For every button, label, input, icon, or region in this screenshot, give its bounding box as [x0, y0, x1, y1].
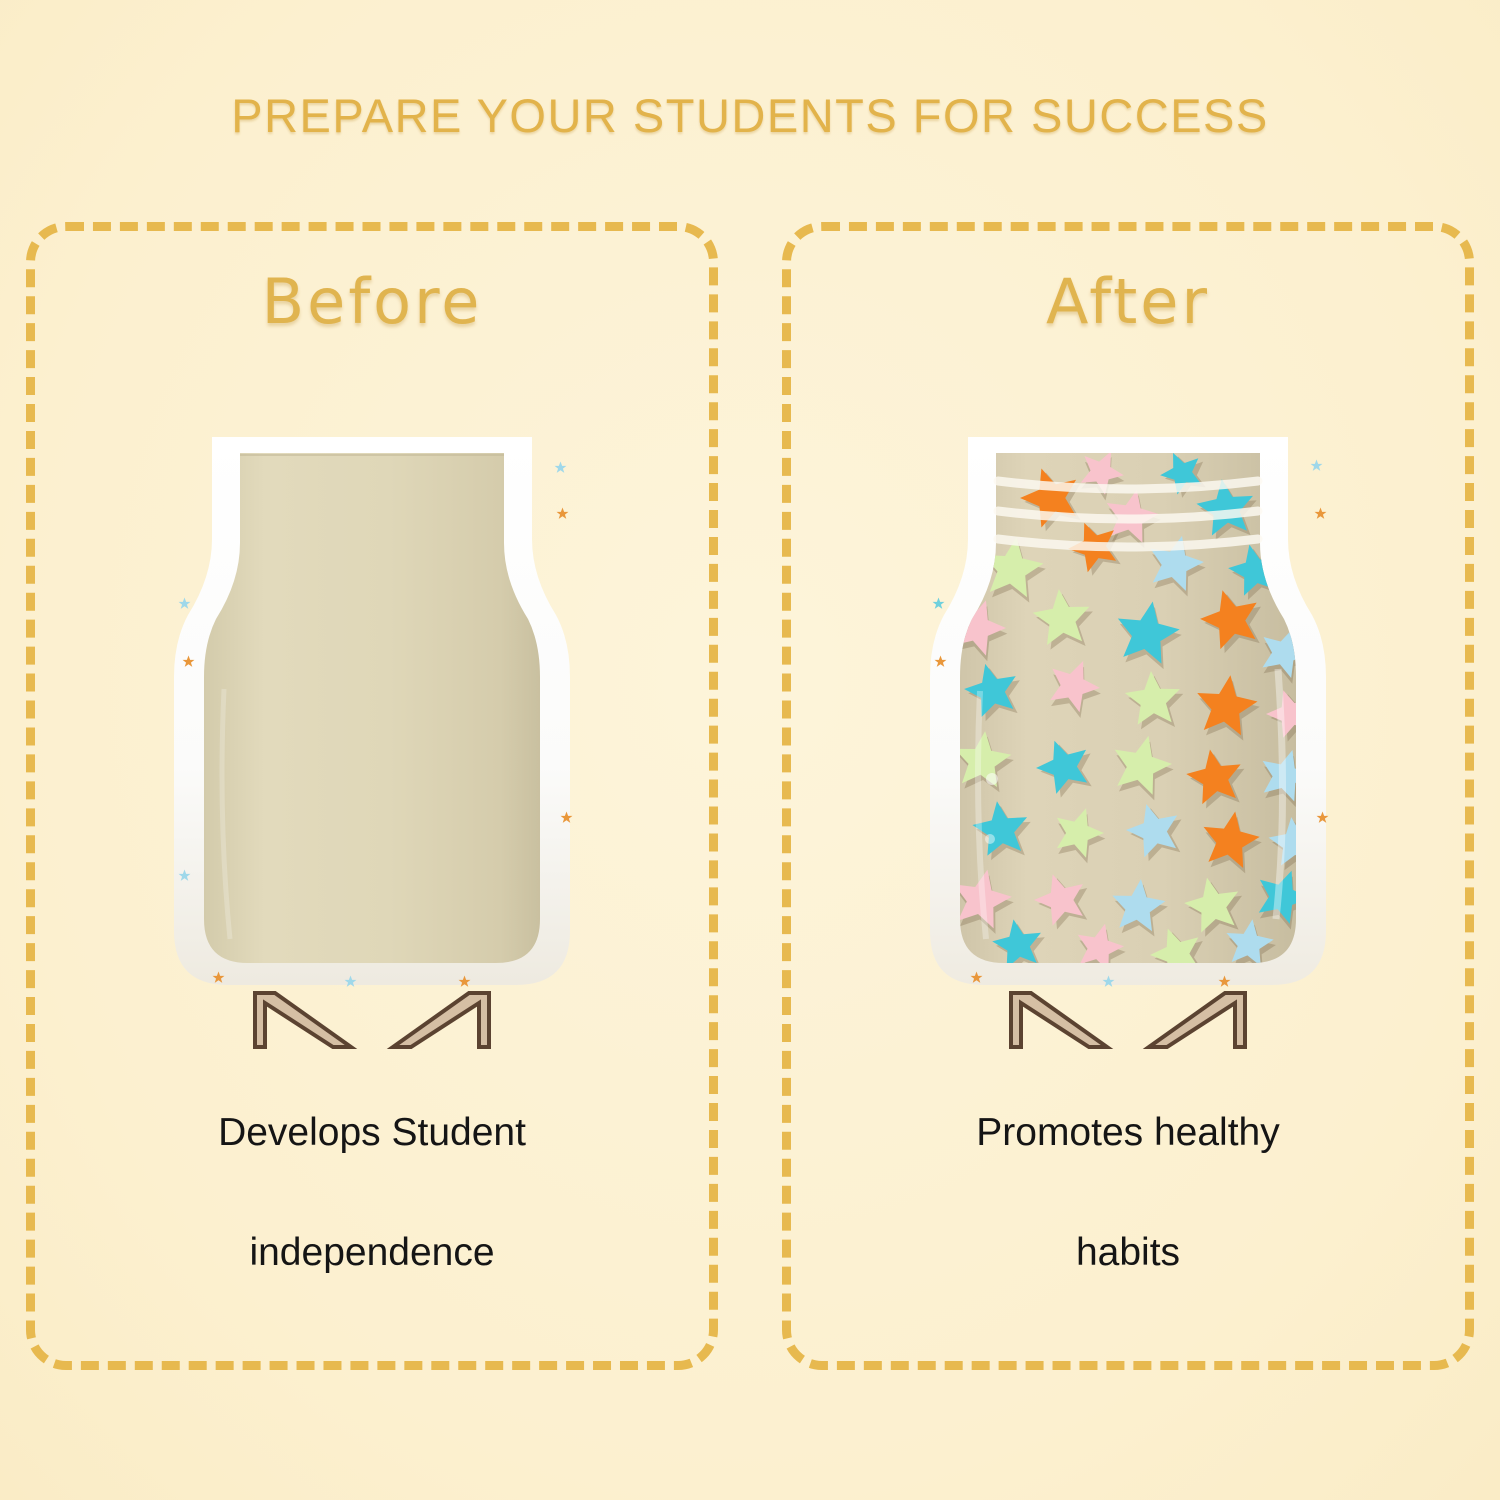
caption-line-1: Develops Student — [35, 1111, 709, 1155]
panel-title-before: Before — [35, 265, 709, 338]
wooden-stand-icon — [1003, 989, 1253, 1051]
page-title: PREPARE YOUR STUDENTS FOR SUCCESS — [0, 88, 1500, 143]
caption-line-2: independence — [35, 1231, 709, 1275]
jar-empty — [172, 419, 572, 1059]
mason-jar-icon — [928, 419, 1328, 1019]
panel-after: After — [782, 222, 1474, 1370]
caption-line-2: habits — [791, 1231, 1465, 1275]
caption-line-1: Promotes healthy — [791, 1111, 1465, 1155]
wooden-stand-icon — [247, 989, 497, 1051]
jar-full-of-stars — [928, 419, 1328, 1059]
mason-jar-icon — [172, 419, 572, 1019]
panel-title-after: After — [791, 265, 1465, 338]
panel-before: Before — [26, 222, 718, 1370]
product-comparison-image: PREPARE YOUR STUDENTS FOR SUCCESS Before — [0, 0, 1500, 1500]
